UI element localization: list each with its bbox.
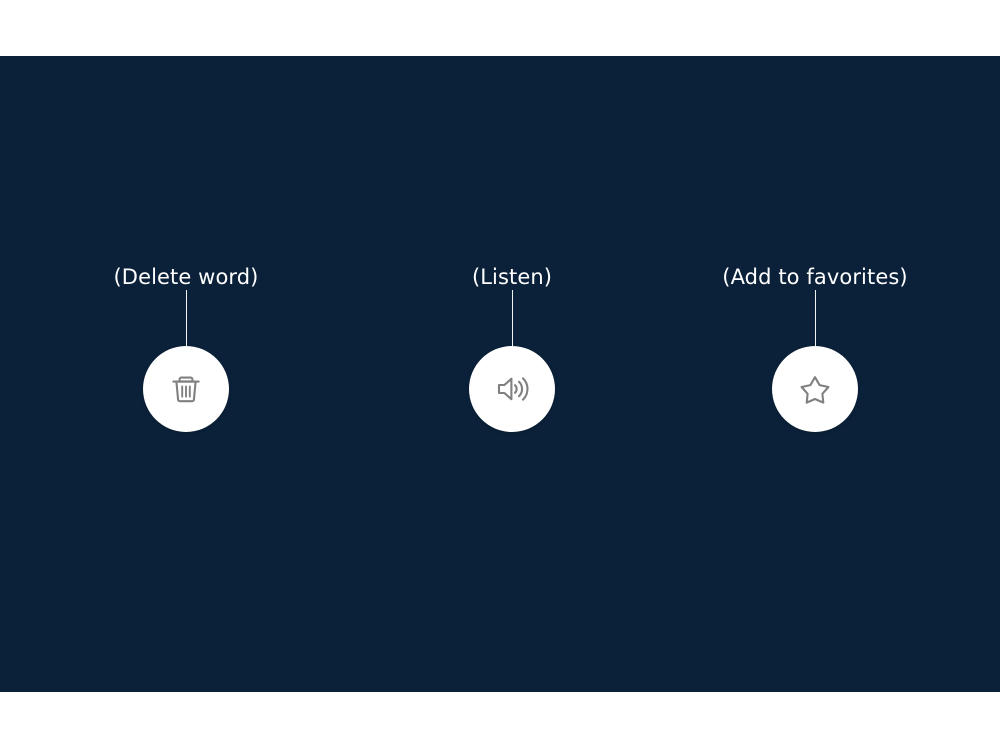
star-outline-icon <box>793 367 837 411</box>
callout-label-listen: (Listen) <box>472 264 552 290</box>
callout-label-delete-word: (Delete word) <box>114 264 259 290</box>
callout-connector-line <box>512 290 513 346</box>
callout-connector-line <box>815 290 816 346</box>
callout-add-to-favorites: (Add to favorites) <box>615 264 1000 432</box>
listen-button[interactable] <box>469 346 555 432</box>
callout-label-add-to-favorites: (Add to favorites) <box>722 264 907 290</box>
add-to-favorites-button[interactable] <box>772 346 858 432</box>
callout-connector-line <box>186 290 187 346</box>
delete-word-button[interactable] <box>143 346 229 432</box>
speaker-volume-icon <box>490 367 534 411</box>
trash-icon <box>164 367 208 411</box>
